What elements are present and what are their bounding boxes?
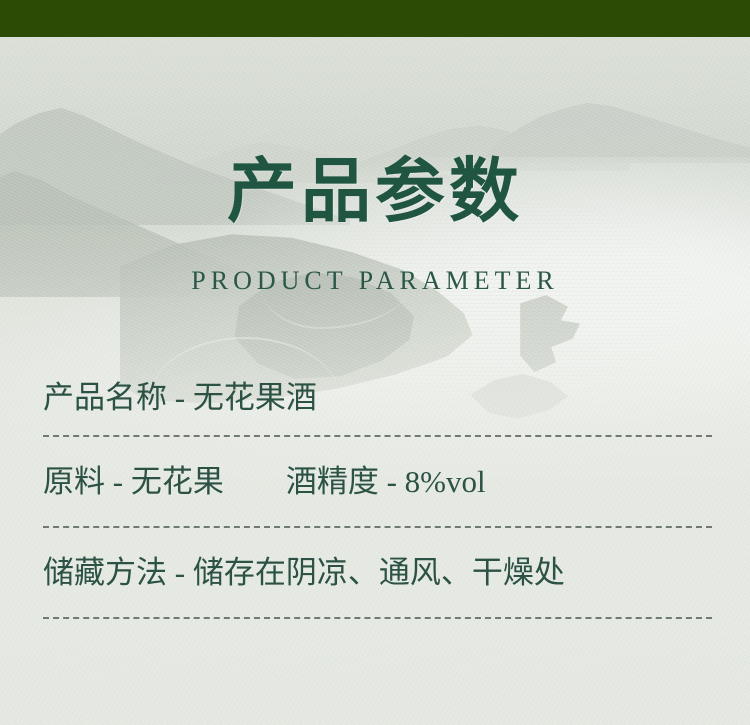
page-subtitle: PRODUCT PARAMETER <box>0 268 750 294</box>
top-green-banner <box>0 0 750 37</box>
spec-row-ingredient-alcohol: 原料 - 无花果 酒精度 - 8%vol <box>43 437 712 526</box>
spec-divider-3 <box>43 617 712 619</box>
spec-divider-1 <box>43 435 712 437</box>
spec-row-product-name: 产品名称 - 无花果酒 <box>43 360 712 435</box>
page-content: 产品参数 PRODUCT PARAMETER 产品名称 - 无花果酒 原料 - … <box>0 0 750 725</box>
spec-divider-2 <box>43 526 712 528</box>
product-parameter-page: 产品参数 PRODUCT PARAMETER 产品名称 - 无花果酒 原料 - … <box>0 0 750 725</box>
spec-row-storage-method: 储藏方法 - 储存在阴凉、通风、干燥处 <box>43 528 712 617</box>
page-title: 产品参数 <box>0 158 750 228</box>
specification-list: 产品名称 - 无花果酒 原料 - 无花果 酒精度 - 8%vol 储藏方法 - … <box>43 360 712 619</box>
